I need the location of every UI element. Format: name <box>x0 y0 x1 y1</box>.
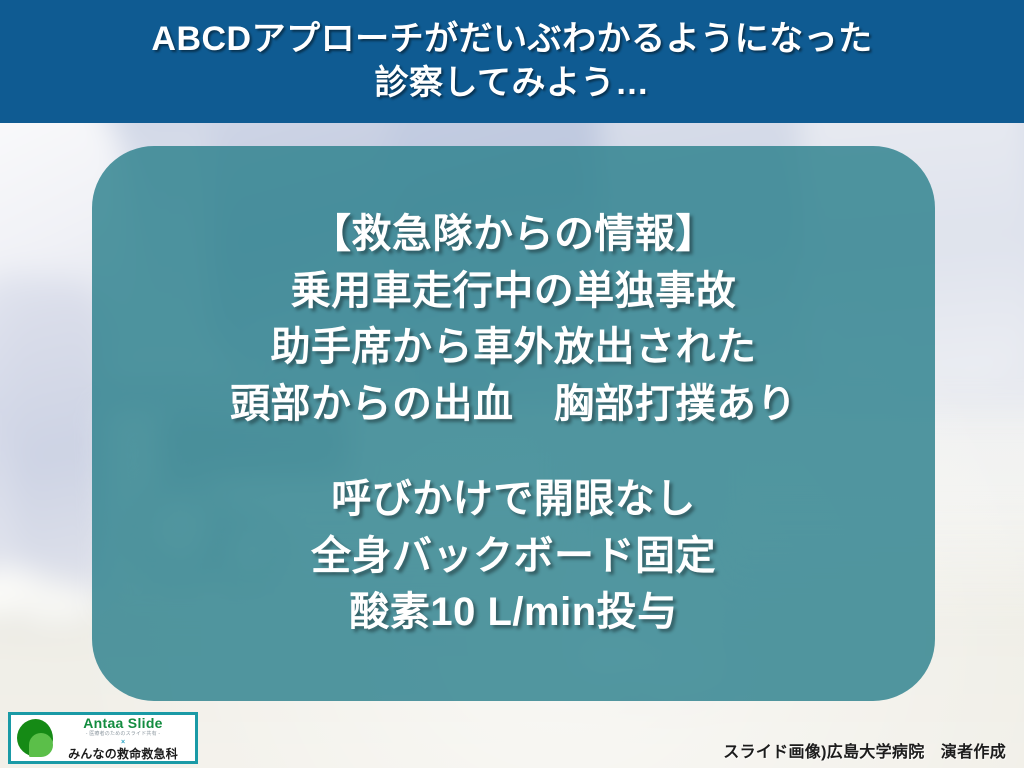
logo-partner-name: みんなの救命救急科 <box>55 748 191 760</box>
logo-brand-name: Antaa Slide <box>55 716 191 730</box>
image-credit: スライド画像)広島大学病院 演者作成 <box>723 738 1006 762</box>
logo-text-block: Antaa Slide - 医療者のためのスライド共有 - × みんなの救命救急… <box>55 716 195 760</box>
slide-canvas: ABCDアプローチがだいぶわかるようになった 診察してみよう… 【救急隊からの情… <box>0 0 1024 768</box>
content-card: 【救急隊からの情報】 乗用車走行中の単独事故 助手席から車外放出された 頭部から… <box>92 146 935 701</box>
antaa-slide-logo: Antaa Slide - 医療者のためのスライド共有 - × みんなの救命救急… <box>8 712 198 764</box>
logo-separator: × <box>55 739 191 746</box>
leaf-icon <box>15 717 55 759</box>
slide-header: ABCDアプローチがだいぶわかるようになった 診察してみよう… <box>0 0 1024 123</box>
ems-report-paragraph: 【救急隊からの情報】 乗用車走行中の単独事故 助手席から車外放出された 頭部から… <box>230 206 797 433</box>
patient-status-paragraph: 呼びかけで開眼なし 全身バックボード固定 酸素10 L/min投与 <box>311 471 716 641</box>
slide-title: ABCDアプローチがだいぶわかるようになった 診察してみよう… <box>111 18 912 105</box>
leaf-icon-accent <box>29 733 53 757</box>
logo-subtitle: - 医療者のためのスライド共有 - <box>55 732 191 737</box>
